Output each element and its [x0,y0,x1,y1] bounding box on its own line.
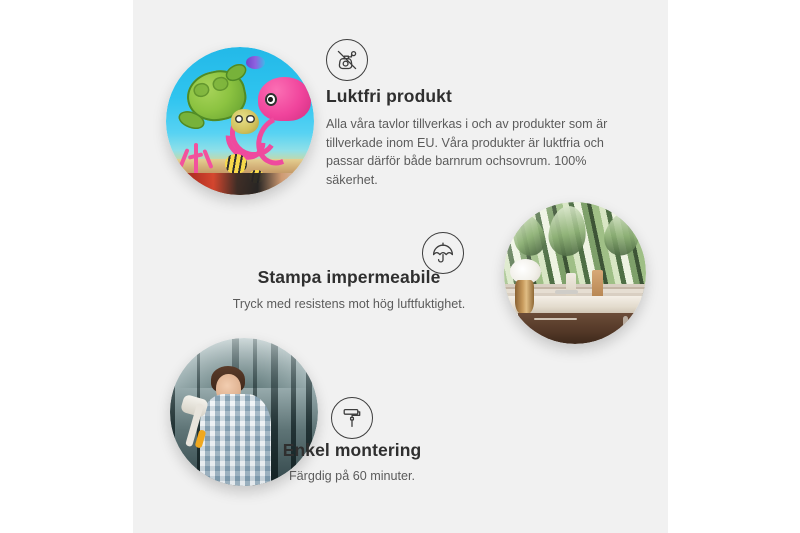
feature-body: Färgdig på 60 minuter. [256,467,448,486]
faucet [555,290,578,294]
toiletry-bottle [566,273,576,299]
wooden-vanity [518,313,646,344]
feature-text-odourless: Luktfri produkt Alla våra tavlor tillver… [326,86,626,189]
palm-leaf [507,210,550,260]
feature-body: Alla våra tavlor tillverkas i och av pro… [326,115,626,189]
feature-title: Stampa impermeabile [197,267,501,288]
feature-text-easy-mounting: Enkel montering Färgdig på 60 minuter. [256,440,448,486]
purple-fish [246,56,265,69]
paint-roller-icon [331,397,373,439]
feature-body: Tryck med resistens mot hög luftfuktighe… [197,295,501,314]
feature-title: Enkel montering [256,440,448,461]
feature-title: Luktfri produkt [326,86,626,107]
room-scene-strip [166,173,314,195]
content-panel: Luktfri produkt Alla våra tavlor tillver… [133,0,668,533]
pink-coral [175,130,219,174]
product-feature-infographic: Luktfri produkt Alla våra tavlor tillver… [0,0,800,533]
sea-turtle-head [231,109,259,134]
palm-leaf [547,204,589,258]
underwater-illustration [166,47,314,195]
bathroom-photo [504,202,646,344]
no-smell-spray-bottle-icon [326,39,368,81]
palm-leaf [599,205,646,261]
tree-trunk [170,338,175,486]
feature-image-underwater [166,47,314,195]
feature-image-bathroom [504,202,646,344]
gold-vase [515,280,533,314]
feature-text-waterproof: Stampa impermeabile Tryck med resistens … [197,267,501,314]
